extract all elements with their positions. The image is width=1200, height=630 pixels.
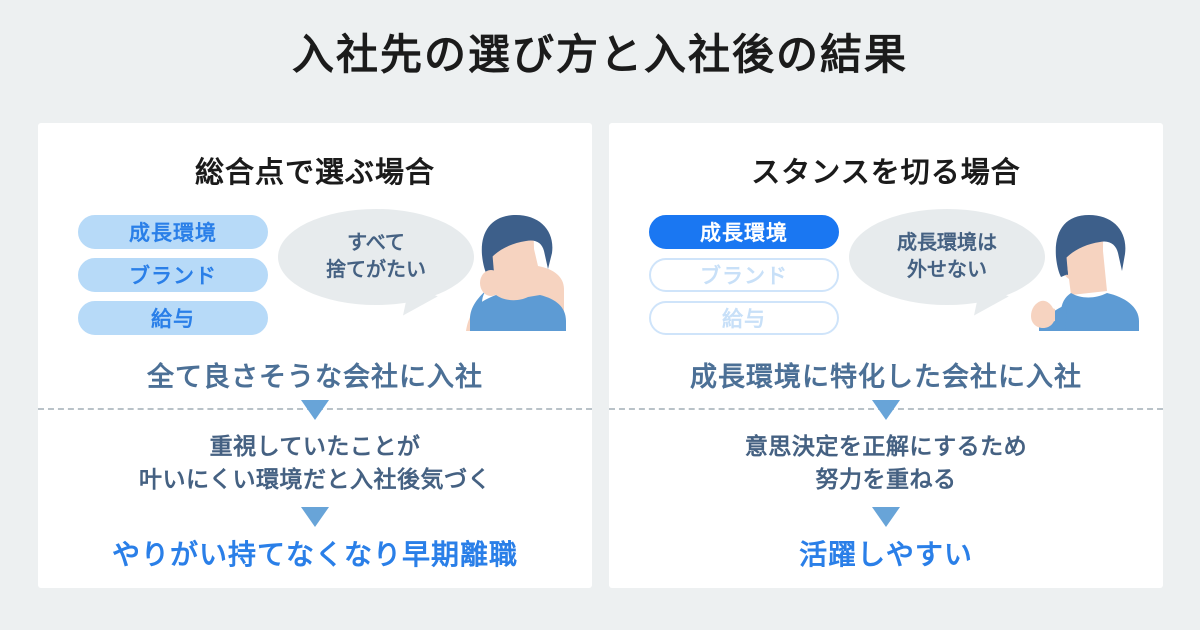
outcome-text: 意思決定を正解にするため 努力を重ねる [609,430,1163,497]
panel-result-text: 全て良さそうな会社に入社 [38,355,592,394]
criteria-tag-list: 成長環境 ブランド 給与 [649,215,839,335]
outcome-line-2: 努力を重ねる [609,463,1163,496]
panel-result-text: 成長環境に特化した会社に入社 [609,355,1163,394]
panel-bottom-section: 意思決定を正解にするため 努力を重ねる 活躍しやすい [609,430,1163,573]
person-thinking-icon [456,209,576,331]
outcome-line-1: 意思決定を正解にするため [609,430,1163,463]
person-thinking-illustration [456,209,576,331]
panel-heading: 総合点で選ぶ場合 [38,149,592,191]
criteria-tag-brand[interactable]: ブランド [78,258,268,292]
bubble-line-1: 成長環境は [897,230,997,257]
person-determined-illustration [1027,209,1147,331]
panel-heading: スタンスを切る場合 [609,149,1163,191]
speech-bubble-tail-icon [974,284,1010,322]
person-determined-icon [1027,209,1147,331]
bubble-line-2: 外せない [907,257,987,284]
criteria-tag-brand[interactable]: ブランド [649,258,839,292]
arrow-down-icon [872,400,900,420]
outcome-line-1: 重視していたことが [38,430,592,463]
criteria-tag-salary[interactable]: 給与 [78,301,268,335]
comparison-panels: 総合点で選ぶ場合 成長環境 ブランド 給与 すべて 捨てがたい [38,123,1164,588]
criteria-tag-salary[interactable]: 給与 [649,301,839,335]
speech-bubble: すべて 捨てがたい [278,209,474,305]
final-outcome-text: やりがい持てなくなり早期離職 [38,533,592,573]
bubble-line-2: 捨てがたい [326,257,426,284]
bubble-line-1: すべて [347,230,405,257]
page-title: 入社先の選び方と入社後の結果 [0,30,1200,80]
criteria-tag-growth[interactable]: 成長環境 [78,215,268,249]
outcome-text: 重視していたことが 叶いにくい環境だと入社後気づく [38,430,592,497]
criteria-tag-list: 成長環境 ブランド 給与 [78,215,268,335]
panel-clear-stance: スタンスを切る場合 成長環境 ブランド 給与 成長環境は 外せない [609,123,1163,588]
outcome-line-2: 叶いにくい環境だと入社後気づく [38,463,592,496]
arrow-down-icon-2 [872,507,900,527]
arrow-down-icon [301,400,329,420]
arrow-down-icon-2 [301,507,329,527]
speech-bubble: 成長環境は 外せない [849,209,1045,305]
final-outcome-text: 活躍しやすい [609,533,1163,573]
panel-overall-score: 総合点で選ぶ場合 成長環境 ブランド 給与 すべて 捨てがたい [38,123,592,588]
criteria-tag-growth[interactable]: 成長環境 [649,215,839,249]
speech-bubble-tail-icon [403,284,439,322]
panel-bottom-section: 重視していたことが 叶いにくい環境だと入社後気づく やりがい持てなくなり早期離職 [38,430,592,573]
